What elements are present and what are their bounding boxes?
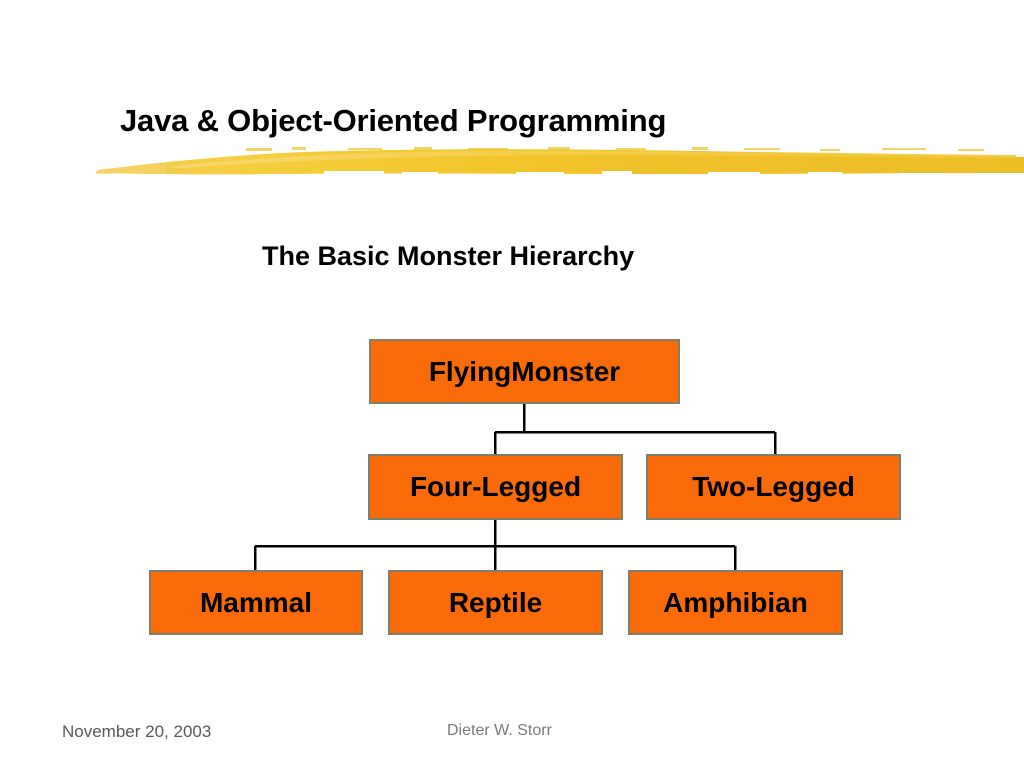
slide-canvas: Java & Object-Oriented Programming [0, 0, 1024, 768]
node-amphibian[interactable]: Amphibian [628, 570, 843, 635]
node-label: Reptile [449, 589, 542, 617]
node-label: FlyingMonster [429, 358, 620, 386]
monster-hierarchy-diagram: FlyingMonster Four-Legged Two-Legged Mam… [0, 0, 1024, 768]
footer-date: November 20, 2003 [62, 722, 211, 742]
node-mammal[interactable]: Mammal [149, 570, 363, 635]
node-reptile[interactable]: Reptile [388, 570, 603, 635]
node-flyingmonster[interactable]: FlyingMonster [369, 339, 680, 404]
node-four-legged[interactable]: Four-Legged [368, 454, 623, 520]
node-label: Amphibian [663, 589, 808, 617]
node-label: Four-Legged [410, 473, 581, 501]
node-two-legged[interactable]: Two-Legged [646, 454, 901, 520]
node-label: Mammal [200, 589, 312, 617]
node-label: Two-Legged [692, 473, 855, 501]
footer-author: Dieter W. Storr [447, 722, 552, 740]
